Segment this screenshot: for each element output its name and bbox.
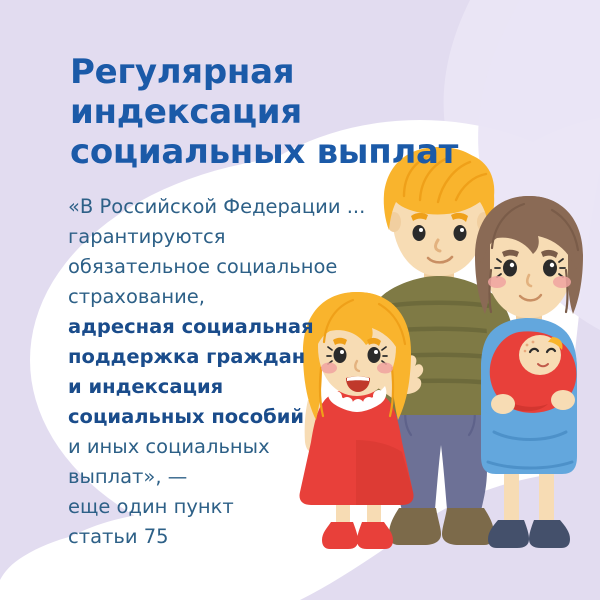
body-line: гарантируются — [68, 222, 368, 252]
mother-eye-right — [543, 260, 557, 277]
body-line-bold: поддержка граждан — [68, 342, 368, 372]
father-eye-highlight-right — [460, 228, 464, 232]
body-line-bold: адресная социальная — [68, 312, 368, 342]
mother-hand-right — [551, 390, 575, 410]
girl-eye-highlight-right — [374, 350, 378, 354]
body-line: «В Российской Федерации ... — [68, 192, 368, 222]
mother-eye-highlight-right — [550, 263, 554, 267]
body-line: еще один пункт — [68, 492, 368, 522]
father-shoe-right — [442, 508, 494, 545]
father-shoe-left — [389, 508, 441, 545]
mother-shoe-left — [488, 520, 529, 548]
body-line: обязательное социальное — [68, 252, 368, 282]
body-line-bold: и индексация — [68, 372, 368, 402]
figure-mother — [475, 196, 583, 548]
body-line: и иных социальных — [68, 432, 368, 462]
mother-cheek-left — [488, 276, 506, 288]
mother-shoe-right — [529, 520, 570, 548]
body-line: статьи 75 — [68, 522, 368, 552]
father-eye-left — [413, 225, 426, 241]
girl-eye-right — [368, 347, 381, 363]
mother-eye-highlight-left — [510, 263, 514, 267]
girl-cheek-right — [377, 363, 393, 374]
father-eye-right — [454, 225, 467, 241]
page-title: Регулярная индексация социальных выплат — [70, 52, 530, 172]
body-line: страхование, — [68, 282, 368, 312]
body-line: выплат», — — [68, 462, 368, 492]
body-line-bold: социальных пособий — [68, 402, 368, 432]
father-eye-highlight-left — [419, 228, 423, 232]
mother-hand-left — [491, 394, 515, 414]
body-text-block: «В Российской Федерации ... гарантируютс… — [68, 192, 368, 552]
mother-eye-left — [503, 260, 517, 277]
infographic-card: Регулярная индексация социальных выплат … — [0, 0, 600, 600]
mother-cheek-right — [553, 276, 571, 288]
